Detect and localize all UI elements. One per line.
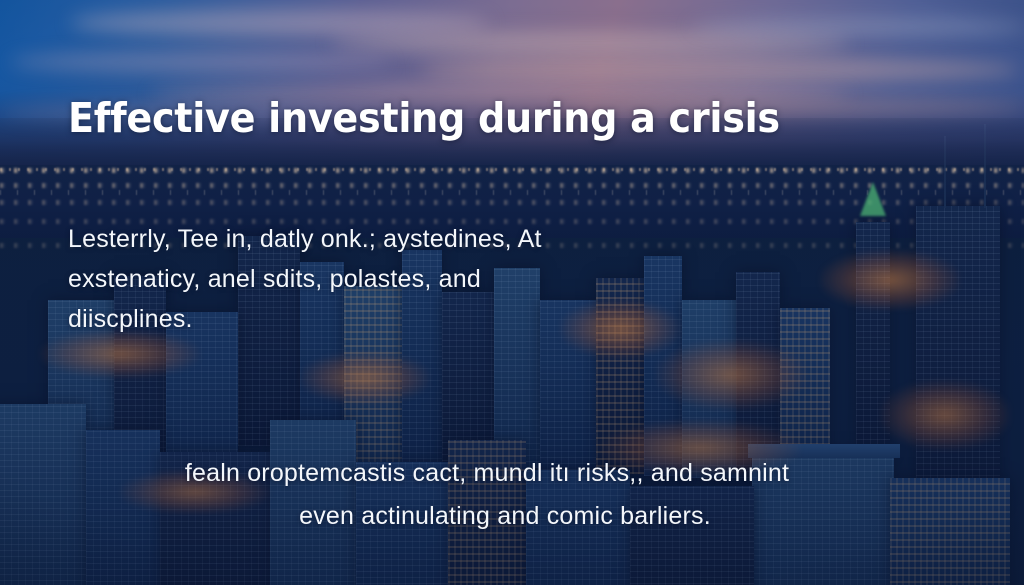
body-line: diiscplines. <box>68 299 668 339</box>
body-line: Lesterrly, Tee in, datly onk.; aystedine… <box>68 219 668 259</box>
footer-paragraph: fealn oroptemcastis cact, mundl itı risk… <box>0 452 1024 538</box>
body-paragraph: Lesterrly, Tee in, datly onk.; aystedine… <box>68 219 668 339</box>
footer-line: fealn oroptemcastis cact, mundl itı risk… <box>0 452 1024 495</box>
footer-line: even actinulating and comic barliers. <box>0 495 1024 538</box>
slide-title: Effective investing during a crisis <box>68 94 780 142</box>
text-layer: Effective investing during a crisis Lest… <box>0 0 1024 585</box>
body-line: exstenaticy, anel sdits, polastes, and <box>68 259 668 299</box>
slide-canvas: Effective investing during a crisis Lest… <box>0 0 1024 585</box>
